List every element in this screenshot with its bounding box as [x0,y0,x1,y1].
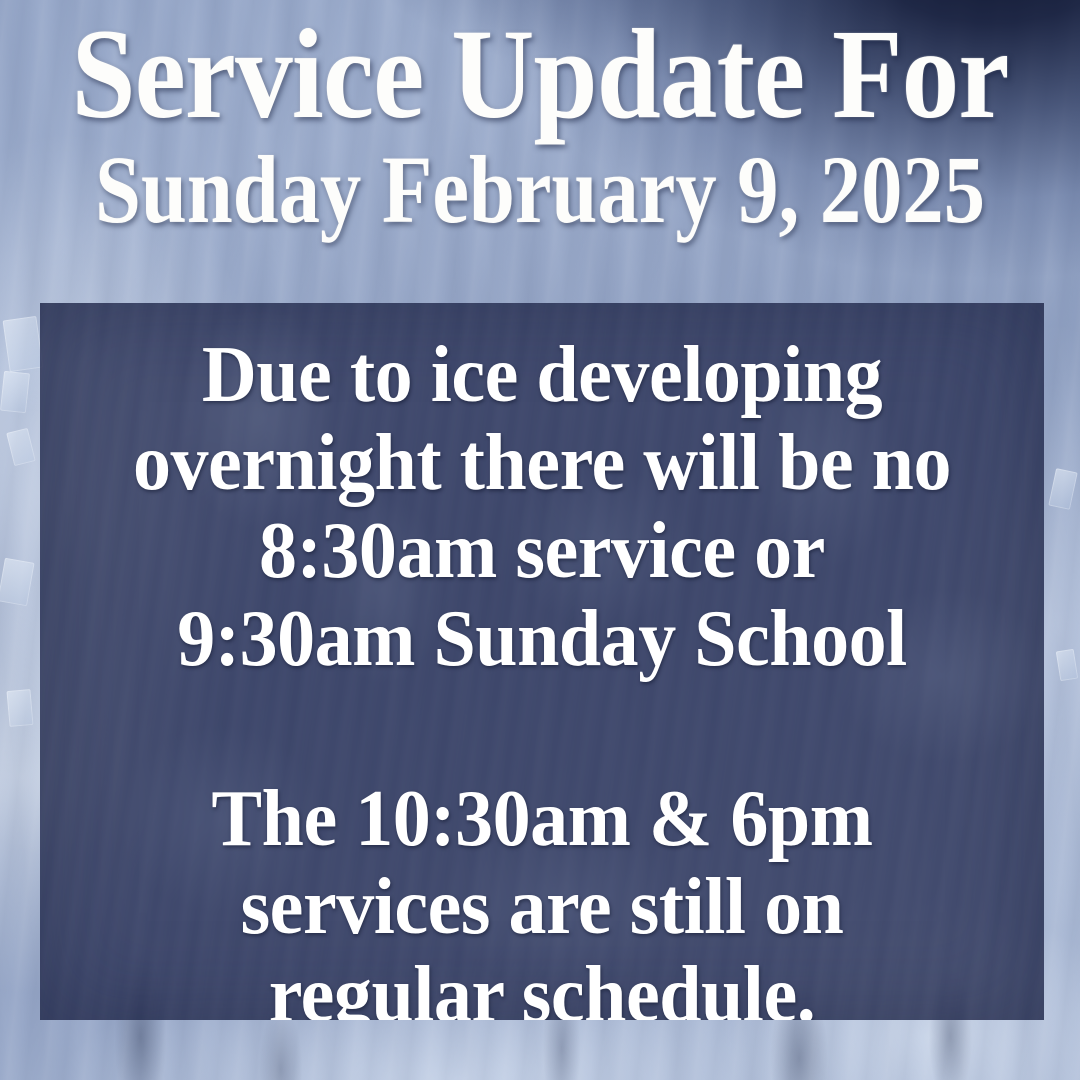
ice-shard [1056,649,1078,681]
paragraph-spacer [64,683,1020,775]
ice-shard [0,558,35,607]
page-subtitle-date: Sunday February 9, 2025 [76,142,1005,238]
ice-shard [3,316,44,372]
notice-line: 9:30am Sunday School [88,595,996,683]
notice-line: Due to ice developing [88,331,996,419]
notice-line: 8:30am service or [88,507,996,595]
notice-paragraph-cancellations: Due to ice developing overnight there wi… [88,331,996,683]
notice-line: The 10:30am & 6pm [88,775,996,863]
notice-panel: Due to ice developing overnight there wi… [40,303,1044,1020]
ice-shard [6,428,36,466]
notice-line: overnight there will be no [88,419,996,507]
ice-shard [0,371,30,413]
notice-line: regular schedule. [88,951,996,1020]
service-update-poster: Service Update For Sunday February 9, 20… [0,0,1080,1080]
headline-block: Service Update For Sunday February 9, 20… [0,14,1080,238]
notice-panel-content: Due to ice developing overnight there wi… [40,303,1044,1020]
ice-shard [6,689,33,727]
notice-line: services are still on [88,863,996,951]
page-title: Service Update For [54,14,1026,136]
ice-shard [1048,468,1077,510]
notice-paragraph-still-on: The 10:30am & 6pm services are still on … [88,775,996,1020]
